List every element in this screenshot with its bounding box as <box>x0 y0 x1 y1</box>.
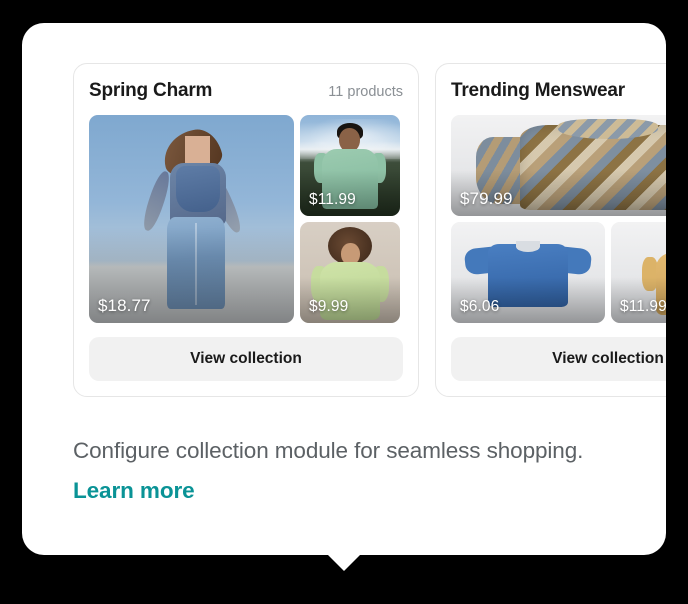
view-collection-button[interactable]: View collection <box>89 337 403 381</box>
product-tile-small-2[interactable]: $11.99 <box>611 222 666 323</box>
collection-title: Spring Charm <box>89 80 212 102</box>
caption-text: Configure collection module for seamless… <box>73 438 583 463</box>
product-price: $18.77 <box>98 296 151 316</box>
caption: Configure collection module for seamless… <box>73 431 633 511</box>
product-grid: $18.77 $11.9 <box>89 115 403 323</box>
figure-denim-vest <box>176 166 220 212</box>
learn-more-link[interactable]: Learn more <box>73 478 195 503</box>
product-price: $6.06 <box>460 298 499 316</box>
card-header: Trending Menswear <box>451 80 666 102</box>
collection-carousel-track[interactable]: Spring Charm 11 products <box>73 63 666 397</box>
card-header: Spring Charm 11 products <box>89 80 403 102</box>
collection-title: Trending Menswear <box>451 80 625 102</box>
product-price: $11.99 <box>620 298 666 316</box>
product-tile-small-2[interactable]: $9.99 <box>300 222 400 323</box>
collection-card-trending-menswear[interactable]: Trending Menswear $79.9 <box>435 63 666 397</box>
product-count-label: 11 products <box>314 84 403 100</box>
collection-carousel-viewport[interactable]: Spring Charm 11 products <box>22 23 666 423</box>
view-collection-button[interactable]: View collection <box>451 337 666 381</box>
product-tile-wide[interactable]: $79.99 <box>451 115 666 216</box>
collection-card-spring-charm[interactable]: Spring Charm 11 products <box>73 63 419 397</box>
popover-tail-icon <box>327 554 361 571</box>
product-price: $11.99 <box>309 191 356 209</box>
product-tile-small-1[interactable]: $6.06 <box>451 222 605 323</box>
product-tile-small-1[interactable]: $11.99 <box>300 115 400 216</box>
product-price: $9.99 <box>309 298 348 316</box>
product-price: $79.99 <box>460 189 513 209</box>
popover-root: Spring Charm 11 products <box>0 0 688 604</box>
product-grid: $79.99 $6.06 <box>451 115 666 323</box>
product-tile-hero[interactable]: $18.77 <box>89 115 294 323</box>
popover-surface: Spring Charm 11 products <box>22 23 666 555</box>
